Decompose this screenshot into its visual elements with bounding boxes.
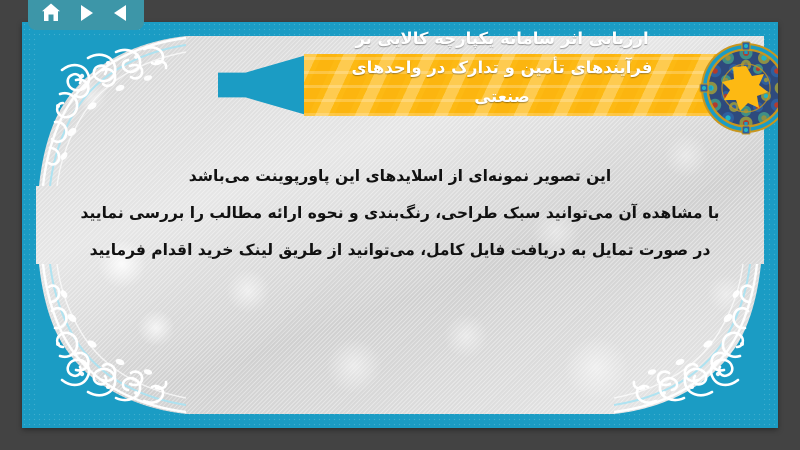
slide-viewer: ارزیابی اثر سامانه یکپارچه کالایی بر فرآ… [0, 0, 800, 450]
triangle-right-icon [75, 3, 97, 23]
previous-slide-button[interactable] [108, 1, 134, 25]
slide-navigation-bar [28, 0, 144, 30]
slide-body-text: این تصویر نمونه‌ای از اسلایدهای این پاور… [62, 158, 738, 269]
slide-title-line-2: فرآیندهای تأمین و تدارک در واحدهای [292, 53, 712, 82]
slide-title: ارزیابی اثر سامانه یکپارچه کالایی بر فرآ… [292, 24, 712, 111]
next-slide-button[interactable] [73, 1, 99, 25]
persian-medallion-ornament [698, 40, 778, 136]
home-icon [39, 2, 63, 24]
slide-title-line-1: ارزیابی اثر سامانه یکپارچه کالایی بر [292, 24, 712, 53]
triangle-left-icon [110, 3, 132, 23]
slide-canvas[interactable]: ارزیابی اثر سامانه یکپارچه کالایی بر فرآ… [22, 22, 778, 428]
slide-title-line-3: صنعتی [292, 82, 712, 111]
slide-body-line-3: در صورت تمایل به دریافت فایل کامل، می‌تو… [62, 232, 738, 269]
slide-body-line-1: این تصویر نمونه‌ای از اسلایدهای این پاور… [62, 158, 738, 195]
home-button[interactable] [38, 1, 64, 25]
slide-body-line-2: با مشاهده آن می‌توانید سبک طراحی، رنگ‌بن… [62, 195, 738, 232]
